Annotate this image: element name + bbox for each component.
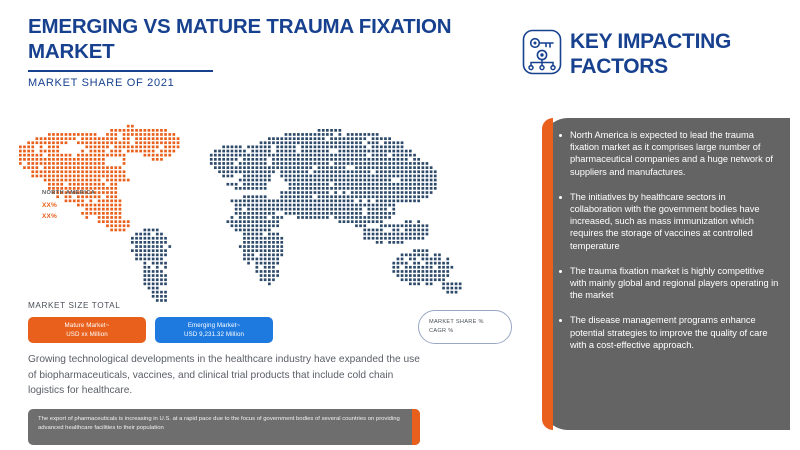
key-factor-item: The disease management programs enhance …	[558, 314, 780, 351]
key-factor-item: North America is expected to lead the tr…	[558, 129, 780, 178]
legend-emerging-line2: USD 9,231.32 Million	[184, 330, 244, 339]
panel-accent-stripe	[542, 118, 553, 430]
map-dots-rest-of-world	[131, 129, 462, 302]
legend-badge-mature: Mature Market~ USD xx Million	[28, 317, 146, 343]
legend-emerging-line1: Emerging Market~	[188, 321, 240, 330]
body-paragraph: Growing technological developments in th…	[28, 352, 428, 399]
callout-cagr-label: CAGR %	[429, 327, 511, 336]
footnote-accent-bar	[412, 409, 420, 445]
key-factor-item: The trauma fixation market is highly com…	[558, 265, 780, 302]
title-divider	[28, 70, 213, 72]
legend-mature-line1: Mature Market~	[65, 321, 110, 330]
world-map-svg	[10, 118, 520, 303]
map-region-label: NORTH AMERICA	[42, 190, 95, 196]
key-factors-list: North America is expected to lead the tr…	[558, 129, 780, 364]
page-subtitle: MARKET SHARE OF 2021	[28, 77, 174, 89]
legend-badge-emerging: Emerging Market~ USD 9,231.32 Million	[155, 317, 273, 343]
market-size-total-label: MARKET SIZE TOTAL	[28, 301, 120, 310]
key-factor-item: The initiatives by healthcare sectors in…	[558, 191, 780, 252]
world-dot-map	[10, 118, 520, 303]
legend-mature-line2: USD xx Million	[66, 330, 108, 339]
page-title: EMERGING VS MATURE TRAUMA FIXATION MARKE…	[28, 14, 488, 64]
map-region-cagr: XX%	[42, 213, 57, 220]
key-network-icon	[521, 28, 563, 76]
infographic-canvas: EMERGING VS MATURE TRAUMA FIXATION MARKE…	[0, 0, 800, 450]
market-share-callout: MARKET SHARE % CAGR %	[418, 310, 512, 344]
footnote-text: The export of pharmaceuticals is increas…	[38, 415, 404, 433]
footnote-box: The export of pharmaceuticals is increas…	[28, 409, 420, 445]
callout-market-share-label: MARKET SHARE %	[429, 318, 511, 327]
map-region-share: XX%	[42, 202, 57, 209]
key-factors-title: KEY IMPACTING FACTORS	[570, 29, 795, 79]
